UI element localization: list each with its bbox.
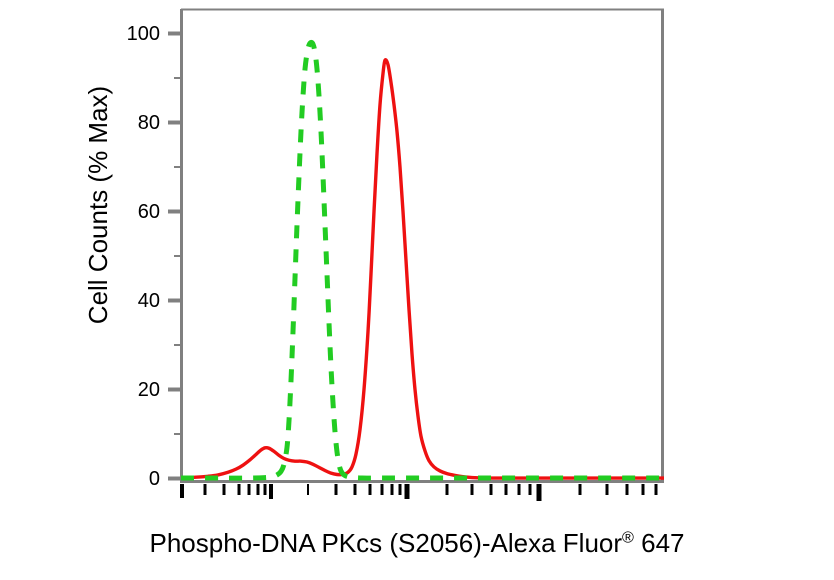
- series-unstained_control: [181, 42, 664, 478]
- flow-cytometry-histogram-figure: 100 80 60 40 20 0 Cell Counts (% Max) Ph…: [0, 0, 834, 580]
- x-axis-title-main: Phospho-DNA PKcs (S2056)-Alexa Fluor: [149, 528, 622, 558]
- x-axis-title-tail: 647: [634, 528, 685, 558]
- x-axis-title: Phospho-DNA PKcs (S2056)-Alexa Fluor® 64…: [0, 528, 834, 559]
- registered-trademark-icon: ®: [622, 528, 634, 546]
- histogram-curves: [181, 42, 664, 478]
- y-axis-ticks: [168, 34, 182, 479]
- y-axis-title: Cell Counts (% Max): [78, 0, 118, 455]
- x-axis-ticks: [182, 484, 656, 501]
- plot-frame: [181, 9, 664, 483]
- series-stained_sample: [181, 60, 664, 478]
- ytick-label-0: 0: [100, 468, 160, 491]
